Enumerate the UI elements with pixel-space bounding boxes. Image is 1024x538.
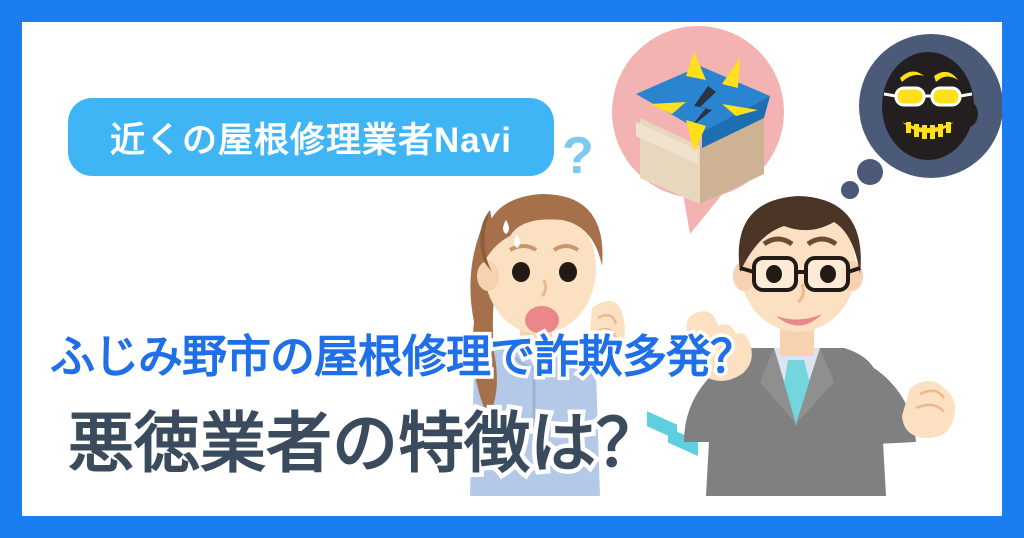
- site-badge[interactable]: 近くの屋根修理業者Navi: [68, 98, 554, 176]
- man-hand-right: [902, 381, 955, 438]
- thought-bubble-dot: [841, 181, 859, 199]
- thought-bubble-dot: [857, 159, 883, 185]
- man-eye: [820, 265, 836, 283]
- banner-stage: 近くの屋根修理業者Navi ? ふじみ野市の屋根修理で詐欺多発？ 悪徳業者の特徴…: [22, 22, 1002, 516]
- badge-question-mark-icon: ?: [562, 130, 594, 182]
- banner-canvas: 近くの屋根修理業者Navi ? ふじみ野市の屋根修理で詐欺多発？ 悪徳業者の特徴…: [0, 0, 1024, 538]
- woman-eye: [512, 262, 530, 282]
- man-eye: [766, 265, 782, 283]
- shady-contractor-thought-bubble: [841, 34, 1002, 199]
- site-badge-label: 近くの屋根修理業者Navi: [110, 112, 512, 163]
- headline-line-2: 悪徳業者の特徴は？: [68, 390, 662, 486]
- headline-line-1: ふじみ野市の屋根修理で詐欺多発？: [50, 320, 754, 385]
- woman-eye: [559, 262, 577, 282]
